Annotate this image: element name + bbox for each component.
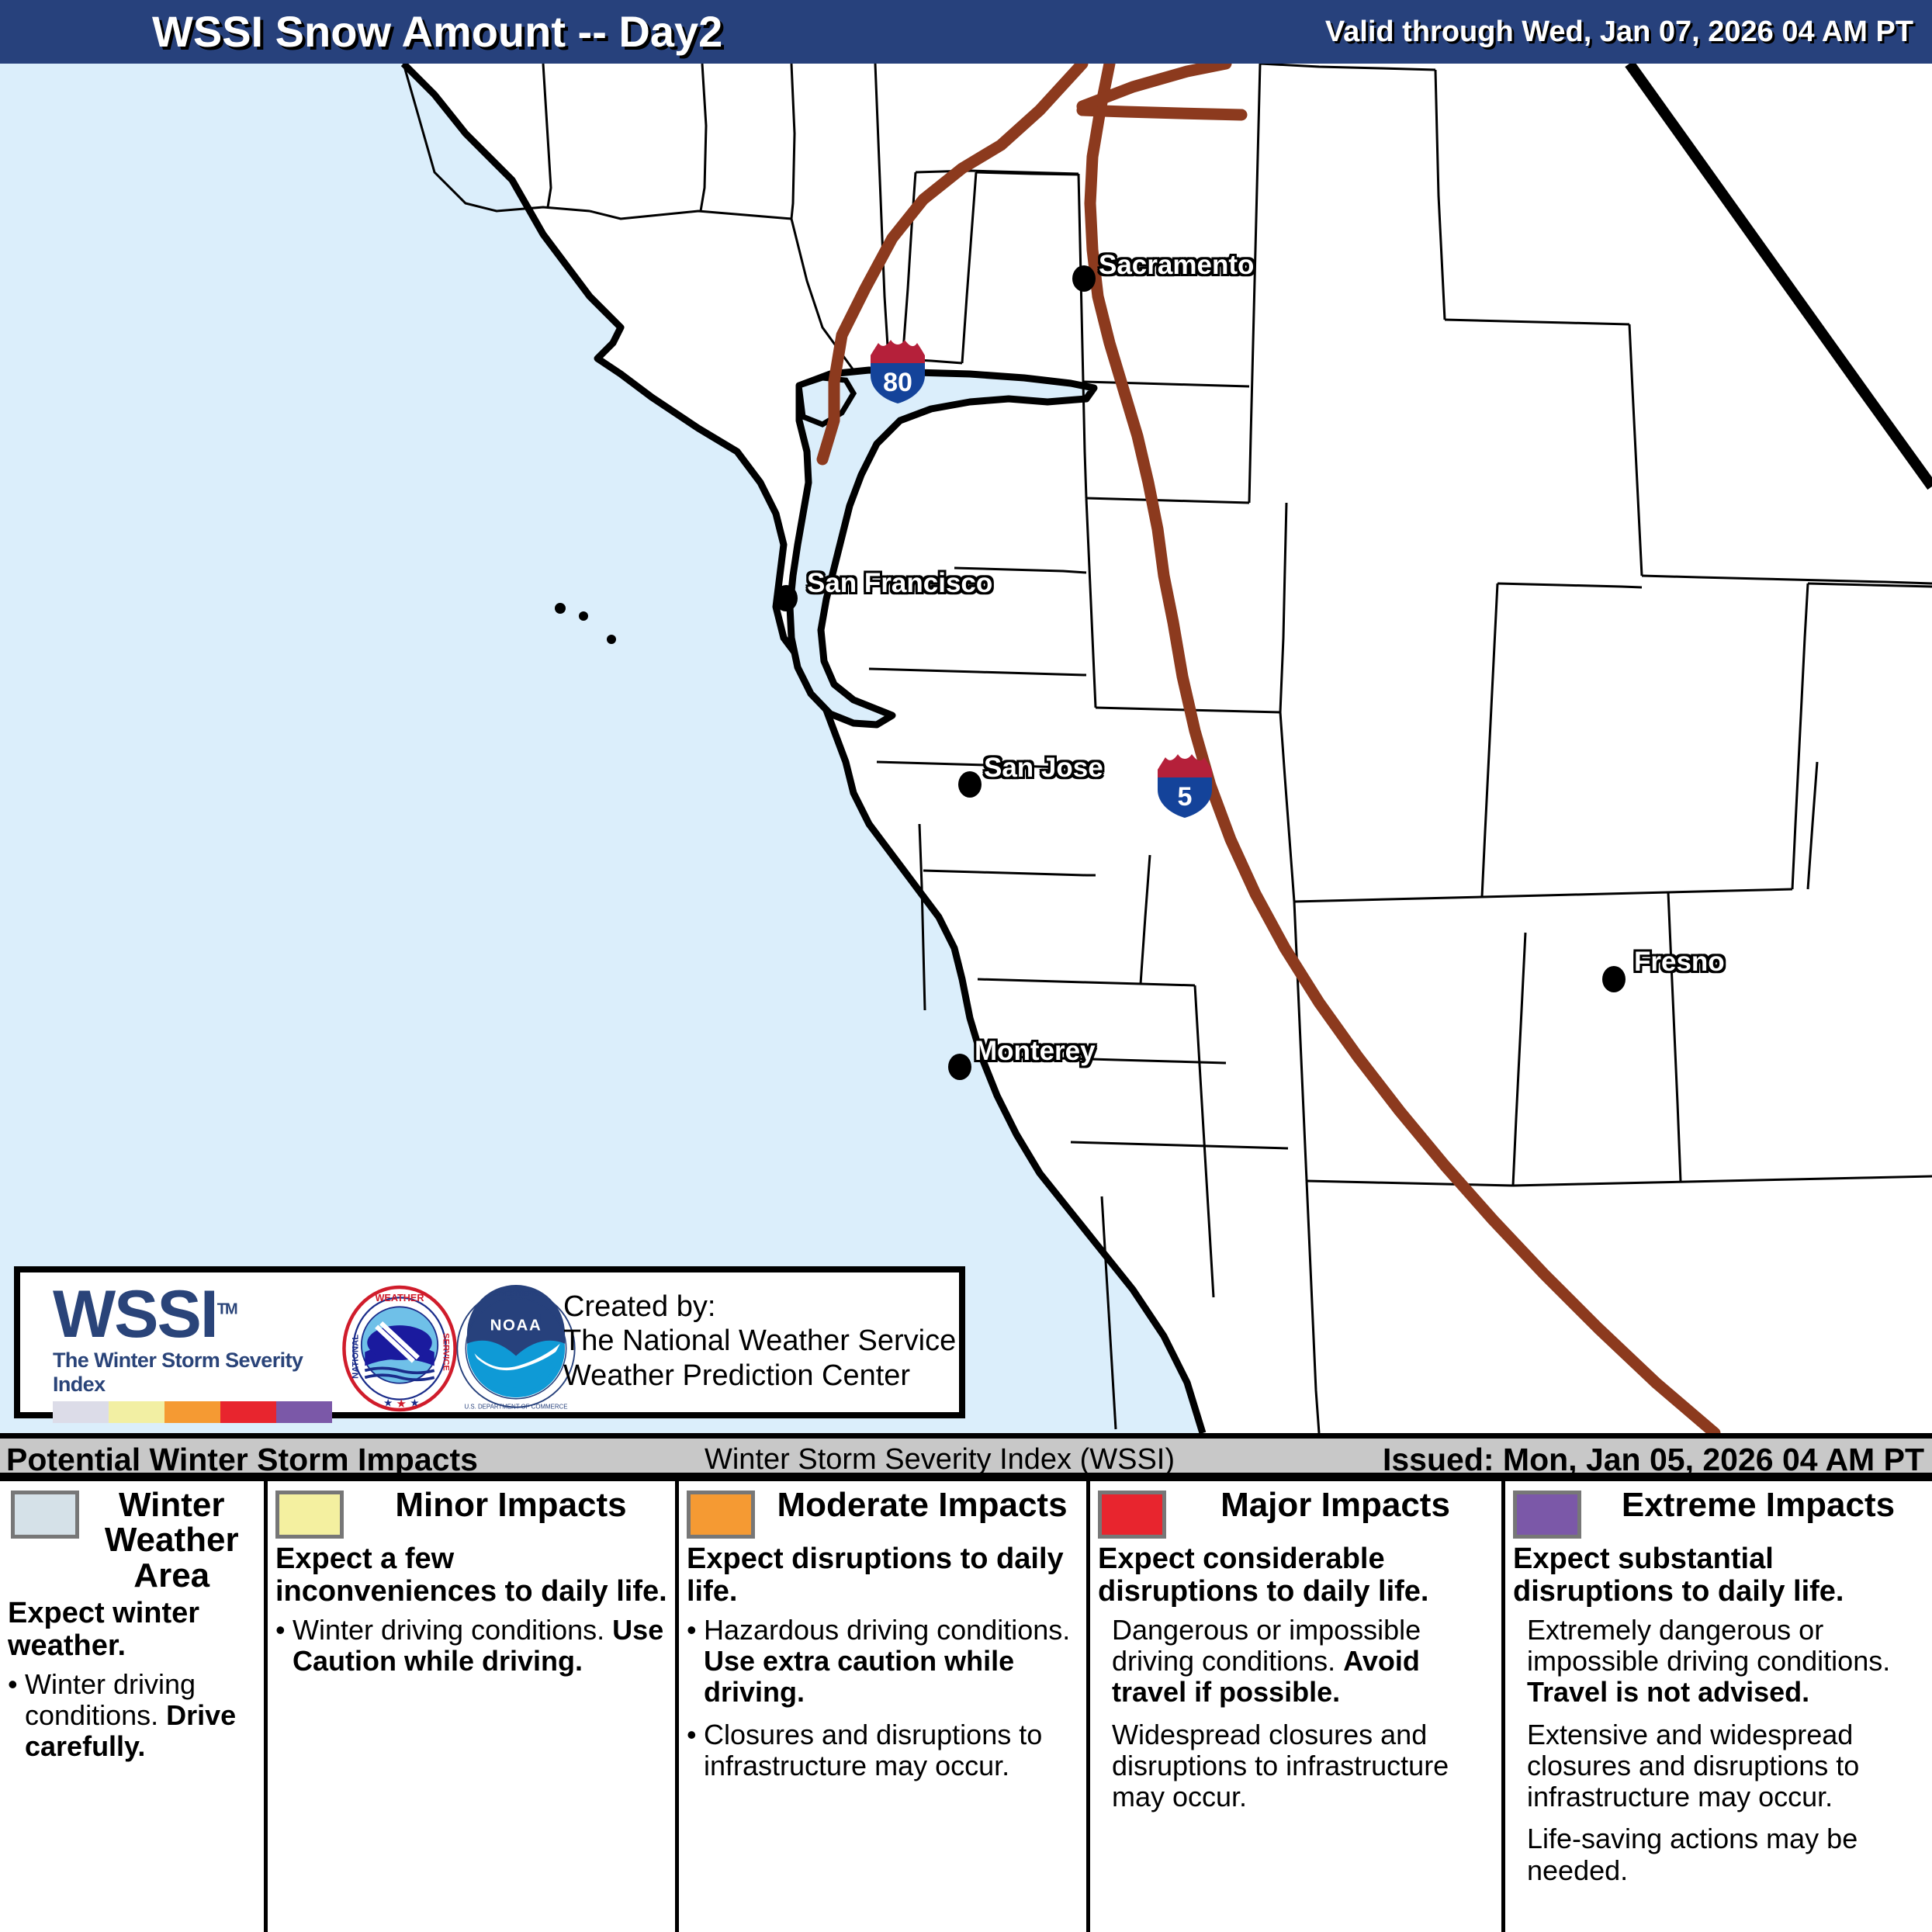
city-label-monterey: Monterey [975,1036,1096,1067]
status-bar-issued: Issued: Mon, Jan 05, 2026 04 AM PT [1383,1442,1924,1478]
svg-text:U.S. DEPARTMENT OF COMMERCE: U.S. DEPARTMENT OF COMMERCE [464,1403,567,1410]
wssi-map-page: WSSI Snow Amount -- Day2 Valid through W… [0,0,1932,1932]
legend-bullet: •Widespread closures and disruptions to … [1098,1719,1494,1813]
legend-intro-moderate-impacts: Expect disruptions to daily life. [687,1543,1079,1608]
legend-swatch-moderate-impacts [687,1491,755,1539]
wssi-wordmark: WSSITM [53,1283,355,1347]
legend-bullet: •Winter driving conditions. Use Caution … [275,1615,667,1678]
legend-intro-major-impacts: Expect considerable disruptions to daily… [1098,1543,1494,1608]
legend-bullet: •Hazardous driving conditions. Use extra… [687,1615,1079,1709]
city-dot-sacramento [1072,265,1096,292]
legend-bullet: •Extensive and widespread closures and d… [1513,1719,1924,1813]
map-canvas[interactable]: Sacramento San Francisco San Jose Fresno… [0,64,1932,1433]
svg-text:ATMOSPHERIC: ATMOSPHERIC [493,1290,538,1297]
offshore-island [579,611,588,621]
legend-bullet: •Winter driving conditions. Drive carefu… [8,1669,256,1763]
offshore-island [555,603,566,614]
svg-text:NATIONAL: NATIONAL [351,1335,360,1379]
scale-swatch-winter-weather [53,1401,109,1423]
scale-swatch-extreme [276,1401,332,1423]
interstate-80-shield: 80 [867,337,928,405]
city-dot-monterey [948,1054,971,1080]
city-label-fresno: Fresno [1634,947,1725,978]
interstate-5-shield: 5 [1155,751,1215,819]
noaa-seal: NOAA ATMOSPHERIC U.S. DEPARTMENT OF COMM… [455,1285,577,1412]
page-title: WSSI Snow Amount -- Day2 [152,6,722,57]
impacts-legend: Winter Weather Area Expect winter weathe… [0,1478,1932,1932]
legend-bullet: •Life-saving actions may be needed. [1513,1823,1924,1886]
city-dot-fresno [1602,966,1626,992]
legend-column-winter-weather-area[interactable]: Winter Weather Area Expect winter weathe… [0,1481,268,1932]
legend-bullets-major-impacts: •Dangerous or impossible driving conditi… [1098,1615,1494,1813]
wssi-logo-box: WSSITM The Winter Storm Severity Index W… [14,1266,965,1418]
legend-bullets-minor-impacts: •Winter driving conditions. Use Caution … [275,1615,667,1678]
city-dot-san-francisco [774,585,798,611]
created-by-line-3: Weather Prediction Center [563,1359,956,1393]
legend-bullet: •Extremely dangerous or impossible drivi… [1513,1615,1924,1709]
legend-bullets-extreme-impacts: •Extremely dangerous or impossible drivi… [1513,1615,1924,1887]
legend-swatch-major-impacts [1098,1491,1166,1539]
legend-bullets-winter-weather-area: •Winter driving conditions. Drive carefu… [8,1669,256,1763]
legend-title-minor-impacts: Minor Impacts [355,1487,667,1522]
svg-text:★: ★ [410,1397,419,1409]
legend-column-moderate-impacts[interactable]: Moderate Impacts Expect disruptions to d… [679,1481,1090,1932]
legend-column-minor-impacts[interactable]: Minor Impacts Expect a few inconvenience… [268,1481,679,1932]
trademark-symbol: TM [217,1300,237,1317]
city-label-san-jose: San Jose [984,753,1103,784]
svg-text:★: ★ [396,1398,407,1411]
legend-intro-winter-weather-area: Expect winter weather. [8,1598,256,1663]
legend-swatch-minor-impacts [275,1491,344,1539]
legend-title-moderate-impacts: Moderate Impacts [766,1487,1079,1522]
legend-bullet: •Dangerous or impossible driving conditi… [1098,1615,1494,1709]
svg-text:NOAA: NOAA [490,1316,542,1334]
scale-swatch-moderate [164,1401,220,1423]
svg-text:WEATHER: WEATHER [375,1293,424,1304]
legend-title-major-impacts: Major Impacts [1177,1487,1494,1522]
wssi-tagline: The Winter Storm Severity Index [53,1349,355,1397]
wssi-color-scale [53,1401,332,1423]
legend-intro-extreme-impacts: Expect substantial disruptions to daily … [1513,1543,1924,1608]
status-bar-subtitle: Winter Storm Severity Index (WSSI) [705,1443,1175,1477]
legend-column-extreme-impacts[interactable]: Extreme Impacts Expect substantial disru… [1505,1481,1932,1932]
interstate-80-number: 80 [883,368,912,397]
city-label-sacramento: Sacramento [1099,250,1254,281]
legend-title-winter-weather-area: Winter Weather Area [90,1487,253,1593]
status-bar: Potential Winter Storm Impacts Winter St… [0,1433,1932,1478]
page-header: WSSI Snow Amount -- Day2 Valid through W… [0,0,1932,64]
valid-through-text: Valid through Wed, Jan 07, 2026 04 AM PT [1325,16,1913,49]
scale-swatch-major [220,1401,276,1423]
svg-text:SERVICE: SERVICE [441,1333,451,1371]
created-by-line-1: Created by: [563,1290,956,1324]
legend-swatch-extreme-impacts [1513,1491,1581,1539]
scale-swatch-minor [109,1401,164,1423]
map-graphics [0,64,1932,1433]
legend-title-extreme-impacts: Extreme Impacts [1592,1487,1924,1522]
created-by-line-2: The National Weather Service [563,1324,956,1358]
city-dot-san-jose [958,771,982,798]
city-label-san-francisco: San Francisco [807,568,992,599]
svg-text:★: ★ [383,1397,393,1409]
legend-bullets-moderate-impacts: •Hazardous driving conditions. Use extra… [687,1615,1079,1782]
wssi-brand-mark: WSSITM The Winter Storm Severity Index [53,1283,355,1423]
interstate-5-number: 5 [1178,782,1193,812]
status-bar-title: Potential Winter Storm Impacts [6,1442,478,1478]
legend-column-major-impacts[interactable]: Major Impacts Expect considerable disrup… [1090,1481,1505,1932]
legend-intro-minor-impacts: Expect a few inconveniences to daily lif… [275,1543,667,1608]
created-by-block: Created by: The National Weather Service… [563,1290,956,1393]
offshore-island [607,635,616,644]
us-50-line [1082,110,1241,115]
legend-bullet: •Closures and disruptions to infrastruct… [687,1719,1079,1782]
national-weather-service-seal: WEATHER NATIONAL SERVICE ★ ★ ★ [341,1285,458,1412]
legend-swatch-winter-weather-area [11,1491,79,1539]
